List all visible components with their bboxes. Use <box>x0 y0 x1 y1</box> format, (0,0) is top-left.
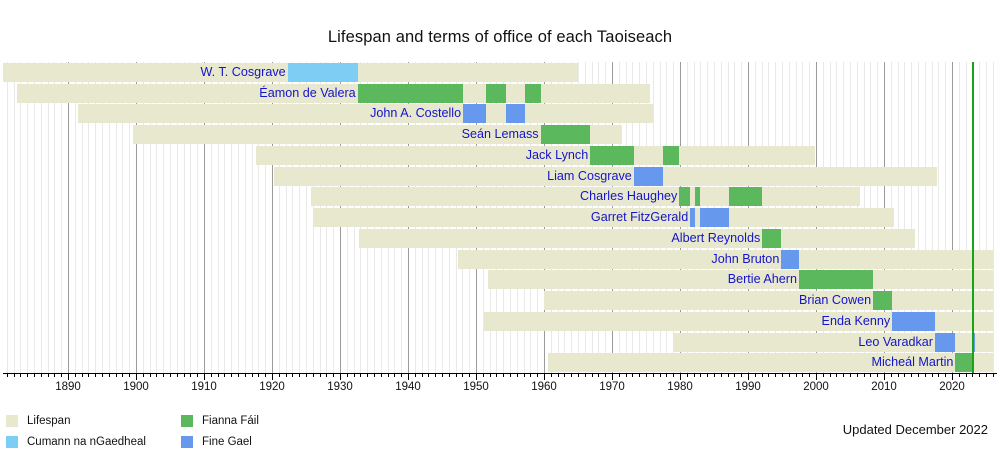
axis-tick-minor <box>462 373 463 377</box>
gantt-row[interactable]: John Bruton <box>3 249 997 270</box>
axis-tick-minor <box>626 373 627 377</box>
axis-tick-minor <box>802 373 803 377</box>
axis-tick-minor <box>449 373 450 377</box>
axis-tick-minor <box>197 373 198 377</box>
legend-label: Fianna Fáil <box>202 415 259 427</box>
axis-tick-label: 2010 <box>871 381 897 393</box>
axis-tick-minor <box>728 373 729 377</box>
axis-tick-minor <box>687 373 688 377</box>
axis-tick-label: 1900 <box>123 381 149 393</box>
axis-tick-minor <box>918 373 919 377</box>
axis-tick-minor <box>605 373 606 377</box>
legend-column: Fianna FáilFine Gael <box>181 410 259 450</box>
axis-tick-major <box>680 373 681 380</box>
axis-tick-minor <box>286 373 287 377</box>
term-bar-ff <box>695 187 700 206</box>
axis-tick-minor <box>510 373 511 377</box>
gantt-row[interactable]: Liam Cosgrave <box>3 166 997 187</box>
gantt-row[interactable]: Jack Lynch <box>3 145 997 166</box>
axis-tick-minor <box>490 373 491 377</box>
axis-tick-label: 1970 <box>599 381 625 393</box>
term-bar-ff <box>525 84 541 103</box>
axis-tick-major <box>476 373 477 380</box>
term-bar-fg <box>700 208 729 227</box>
axis-tick-minor <box>82 373 83 377</box>
axis-tick-minor <box>707 373 708 377</box>
axis-tick-minor <box>843 373 844 377</box>
axis-tick-label: 1980 <box>667 381 693 393</box>
term-bar-fg <box>690 208 695 227</box>
axis-tick-minor <box>585 373 586 377</box>
axis-tick-minor <box>354 373 355 377</box>
axis-tick-minor <box>333 373 334 377</box>
axis-tick-minor <box>401 373 402 377</box>
axis-tick-minor <box>211 373 212 377</box>
gantt-row[interactable]: Charles Haughey <box>3 186 997 207</box>
gantt-plot-area: W. T. CosgraveÉamon de ValeraJohn A. Cos… <box>3 62 997 373</box>
x-axis-line <box>3 373 997 374</box>
axis-tick-label: 1920 <box>259 381 285 393</box>
axis-tick-minor <box>938 373 939 377</box>
gantt-row[interactable]: Seán Lemass <box>3 124 997 145</box>
axis-tick-minor <box>762 373 763 377</box>
axis-tick-label: 2000 <box>803 381 829 393</box>
axis-tick-minor <box>231 373 232 377</box>
term-bar-ff <box>541 125 591 144</box>
axis-tick-minor <box>578 373 579 377</box>
term-bar-ff <box>358 84 463 103</box>
axis-tick-minor <box>415 373 416 377</box>
axis-tick-minor <box>143 373 144 377</box>
axis-tick-minor <box>830 373 831 377</box>
axis-tick-minor <box>721 373 722 377</box>
gantt-row[interactable]: Albert Reynolds <box>3 228 997 249</box>
axis-tick-label: 1930 <box>327 381 353 393</box>
axis-tick-minor <box>367 373 368 377</box>
legend-swatch-fg <box>181 436 193 448</box>
gantt-row[interactable]: Micheál Martin <box>3 352 997 373</box>
legend-item-lifespan[interactable]: Lifespan <box>6 410 146 431</box>
gantt-row[interactable]: W. T. Cosgrave <box>3 62 997 83</box>
axis-tick-minor <box>7 373 8 377</box>
axis-tick-minor <box>558 373 559 377</box>
chart-root: Lifespan and terms of office of each Tao… <box>0 0 1000 450</box>
axis-tick-minor <box>966 373 967 377</box>
legend-swatch-lifespan <box>6 415 18 427</box>
axis-tick-minor <box>347 373 348 377</box>
axis-tick-label: 1890 <box>55 381 81 393</box>
axis-tick-label: 2020 <box>939 381 965 393</box>
gantt-row[interactable]: Brian Cowen <box>3 290 997 311</box>
axis-tick-minor <box>48 373 49 377</box>
axis-tick-label: 1950 <box>463 381 489 393</box>
term-bar-ff <box>762 229 781 248</box>
axis-tick-minor <box>850 373 851 377</box>
legend-item-ff[interactable]: Fianna Fáil <box>181 410 259 431</box>
term-bar-ff <box>729 187 762 206</box>
axis-tick-minor <box>870 373 871 377</box>
term-bar-ff <box>955 353 971 372</box>
axis-tick-minor <box>258 373 259 377</box>
term-bar-ff <box>486 84 506 103</box>
axis-tick-minor <box>517 373 518 377</box>
term-bar-ff <box>590 146 634 165</box>
axis-tick-minor <box>163 373 164 377</box>
axis-tick-minor <box>700 373 701 377</box>
axis-tick-minor <box>993 373 994 377</box>
axis-tick-minor <box>14 373 15 377</box>
axis-tick-minor <box>836 373 837 377</box>
axis-tick-minor <box>326 373 327 377</box>
axis-tick-label: 1910 <box>191 381 217 393</box>
chart-title: Lifespan and terms of office of each Tao… <box>0 28 1000 47</box>
axis-tick-minor <box>456 373 457 377</box>
axis-tick-minor <box>564 373 565 377</box>
axis-tick-minor <box>898 373 899 377</box>
row-label: Charles Haughey <box>580 187 679 206</box>
row-label: Enda Kenny <box>822 312 893 331</box>
axis-tick-minor <box>714 373 715 377</box>
axis-tick-minor <box>734 373 735 377</box>
gantt-row[interactable]: Leo Varadkar <box>3 332 997 353</box>
term-bar-fg <box>506 104 525 123</box>
row-label: Leo Varadkar <box>858 333 935 352</box>
axis-tick-minor <box>109 373 110 377</box>
axis-tick-minor <box>741 373 742 377</box>
axis-tick-minor <box>245 373 246 377</box>
axis-tick-minor <box>483 373 484 377</box>
legend-label: Fine Gael <box>202 436 252 448</box>
axis-tick-minor <box>979 373 980 377</box>
axis-tick-minor <box>388 373 389 377</box>
axis-tick-minor <box>374 373 375 377</box>
axis-tick-minor <box>224 373 225 377</box>
axis-tick-minor <box>673 373 674 377</box>
axis-tick-minor <box>986 373 987 377</box>
axis-tick-minor <box>150 373 151 377</box>
axis-tick-major <box>748 373 749 380</box>
axis-tick-minor <box>41 373 42 377</box>
axis-tick-minor <box>666 373 667 377</box>
axis-tick-minor <box>694 373 695 377</box>
axis-tick-minor <box>156 373 157 377</box>
row-label: Liam Cosgrave <box>547 167 634 186</box>
axis-tick-minor <box>911 373 912 377</box>
axis-tick-minor <box>102 373 103 377</box>
axis-tick-minor <box>660 373 661 377</box>
term-bar-fg <box>892 312 935 331</box>
axis-tick-minor <box>809 373 810 377</box>
axis-tick-minor <box>95 373 96 377</box>
axis-tick-minor <box>524 373 525 377</box>
term-bar-fg <box>935 333 955 352</box>
row-label: Bertie Ahern <box>728 270 799 289</box>
axis-tick-minor <box>129 373 130 377</box>
axis-tick-minor <box>551 373 552 377</box>
axis-tick-minor <box>265 373 266 377</box>
axis-tick-minor <box>435 373 436 377</box>
x-axis: 1890190019101920193019401950196019701980… <box>3 373 997 401</box>
axis-tick-minor <box>279 373 280 377</box>
axis-tick-major <box>68 373 69 380</box>
axis-tick-major <box>136 373 137 380</box>
gantt-row[interactable]: Bertie Ahern <box>3 269 997 290</box>
lifespan-bar <box>544 291 993 310</box>
axis-tick-label: 1960 <box>531 381 557 393</box>
axis-tick-minor <box>755 373 756 377</box>
axis-tick-major <box>272 373 273 380</box>
row-label: John Bruton <box>711 250 781 269</box>
axis-tick-minor <box>646 373 647 377</box>
axis-tick-minor <box>632 373 633 377</box>
axis-tick-minor <box>75 373 76 377</box>
lifespan-bar <box>359 229 915 248</box>
axis-tick-minor <box>177 373 178 377</box>
row-label: Garret FitzGerald <box>591 208 690 227</box>
axis-tick-major <box>612 373 613 380</box>
legend-item-cng[interactable]: Cumann na nGaedheal <box>6 431 146 450</box>
row-label: Éamon de Valera <box>259 84 357 103</box>
legend-label: Lifespan <box>27 415 70 427</box>
axis-tick-minor <box>945 373 946 377</box>
row-label: John A. Costello <box>370 104 463 123</box>
axis-tick-minor <box>34 373 35 377</box>
axis-tick-minor <box>782 373 783 377</box>
axis-tick-minor <box>381 373 382 377</box>
axis-tick-minor <box>122 373 123 377</box>
legend-column: LifespanCumann na nGaedheal <box>6 410 146 450</box>
axis-tick-major <box>884 373 885 380</box>
axis-tick-minor <box>218 373 219 377</box>
axis-tick-minor <box>88 373 89 377</box>
axis-tick-minor <box>428 373 429 377</box>
axis-tick-minor <box>27 373 28 377</box>
axis-tick-minor <box>20 373 21 377</box>
updated-caption: Updated December 2022 <box>843 422 988 437</box>
gantt-row[interactable]: Garret FitzGerald <box>3 207 997 228</box>
legend-label: Cumann na nGaedheal <box>27 436 146 448</box>
axis-tick-minor <box>170 373 171 377</box>
axis-tick-minor <box>789 373 790 377</box>
legend-swatch-cng <box>6 436 18 448</box>
axis-tick-minor <box>864 373 865 377</box>
axis-tick-minor <box>775 373 776 377</box>
axis-tick-minor <box>54 373 55 377</box>
axis-tick-minor <box>394 373 395 377</box>
row-label: Jack Lynch <box>526 146 591 165</box>
axis-tick-major <box>952 373 953 380</box>
axis-tick-minor <box>972 373 973 377</box>
axis-tick-minor <box>592 373 593 377</box>
row-label: W. T. Cosgrave <box>200 63 287 82</box>
axis-tick-label: 1990 <box>735 381 761 393</box>
axis-tick-minor <box>796 373 797 377</box>
axis-tick-minor <box>306 373 307 377</box>
axis-tick-major <box>408 373 409 380</box>
axis-tick-minor <box>823 373 824 377</box>
term-bar-ff <box>873 291 892 310</box>
axis-tick-minor <box>639 373 640 377</box>
axis-tick-minor <box>292 373 293 377</box>
gantt-row[interactable]: Enda Kenny <box>3 311 997 332</box>
axis-tick-minor <box>61 373 62 377</box>
axis-tick-major <box>340 373 341 380</box>
axis-tick-minor <box>925 373 926 377</box>
axis-tick-minor <box>442 373 443 377</box>
axis-tick-minor <box>877 373 878 377</box>
axis-tick-minor <box>598 373 599 377</box>
axis-tick-major <box>204 373 205 380</box>
axis-tick-minor <box>469 373 470 377</box>
axis-tick-minor <box>422 373 423 377</box>
axis-tick-minor <box>238 373 239 377</box>
term-bar-fg <box>634 167 663 186</box>
axis-tick-minor <box>503 373 504 377</box>
term-bar-fg <box>781 250 799 269</box>
axis-tick-minor <box>537 373 538 377</box>
axis-tick-minor <box>530 373 531 377</box>
axis-tick-minor <box>653 373 654 377</box>
axis-tick-minor <box>252 373 253 377</box>
legend-swatch-ff <box>181 415 193 427</box>
axis-tick-minor <box>768 373 769 377</box>
legend-item-fg[interactable]: Fine Gael <box>181 431 259 450</box>
axis-tick-minor <box>299 373 300 377</box>
axis-tick-minor <box>360 373 361 377</box>
gantt-row[interactable]: John A. Costello <box>3 103 997 124</box>
term-bar-ff <box>679 187 690 206</box>
axis-tick-major <box>544 373 545 380</box>
axis-tick-minor <box>320 373 321 377</box>
axis-tick-major <box>816 373 817 380</box>
axis-tick-minor <box>619 373 620 377</box>
lifespan-bar <box>78 104 653 123</box>
axis-tick-minor <box>190 373 191 377</box>
axis-tick-minor <box>932 373 933 377</box>
axis-tick-minor <box>116 373 117 377</box>
axis-tick-minor <box>857 373 858 377</box>
term-bar-ff <box>663 146 679 165</box>
row-label: Brian Cowen <box>799 291 873 310</box>
row-label: Seán Lemass <box>462 125 541 144</box>
current-date-marker <box>972 62 974 373</box>
axis-tick-minor <box>313 373 314 377</box>
axis-tick-label: 1940 <box>395 381 421 393</box>
axis-tick-minor <box>571 373 572 377</box>
axis-tick-minor <box>904 373 905 377</box>
axis-tick-minor <box>959 373 960 377</box>
term-bar-ff <box>799 270 873 289</box>
axis-tick-minor <box>184 373 185 377</box>
axis-tick-minor <box>891 373 892 377</box>
term-bar-fg <box>463 104 485 123</box>
row-label: Micheál Martin <box>872 353 956 372</box>
row-label: Albert Reynolds <box>671 229 762 248</box>
axis-tick-minor <box>496 373 497 377</box>
term-bar-cng <box>288 63 358 82</box>
gantt-row[interactable]: Éamon de Valera <box>3 83 997 104</box>
